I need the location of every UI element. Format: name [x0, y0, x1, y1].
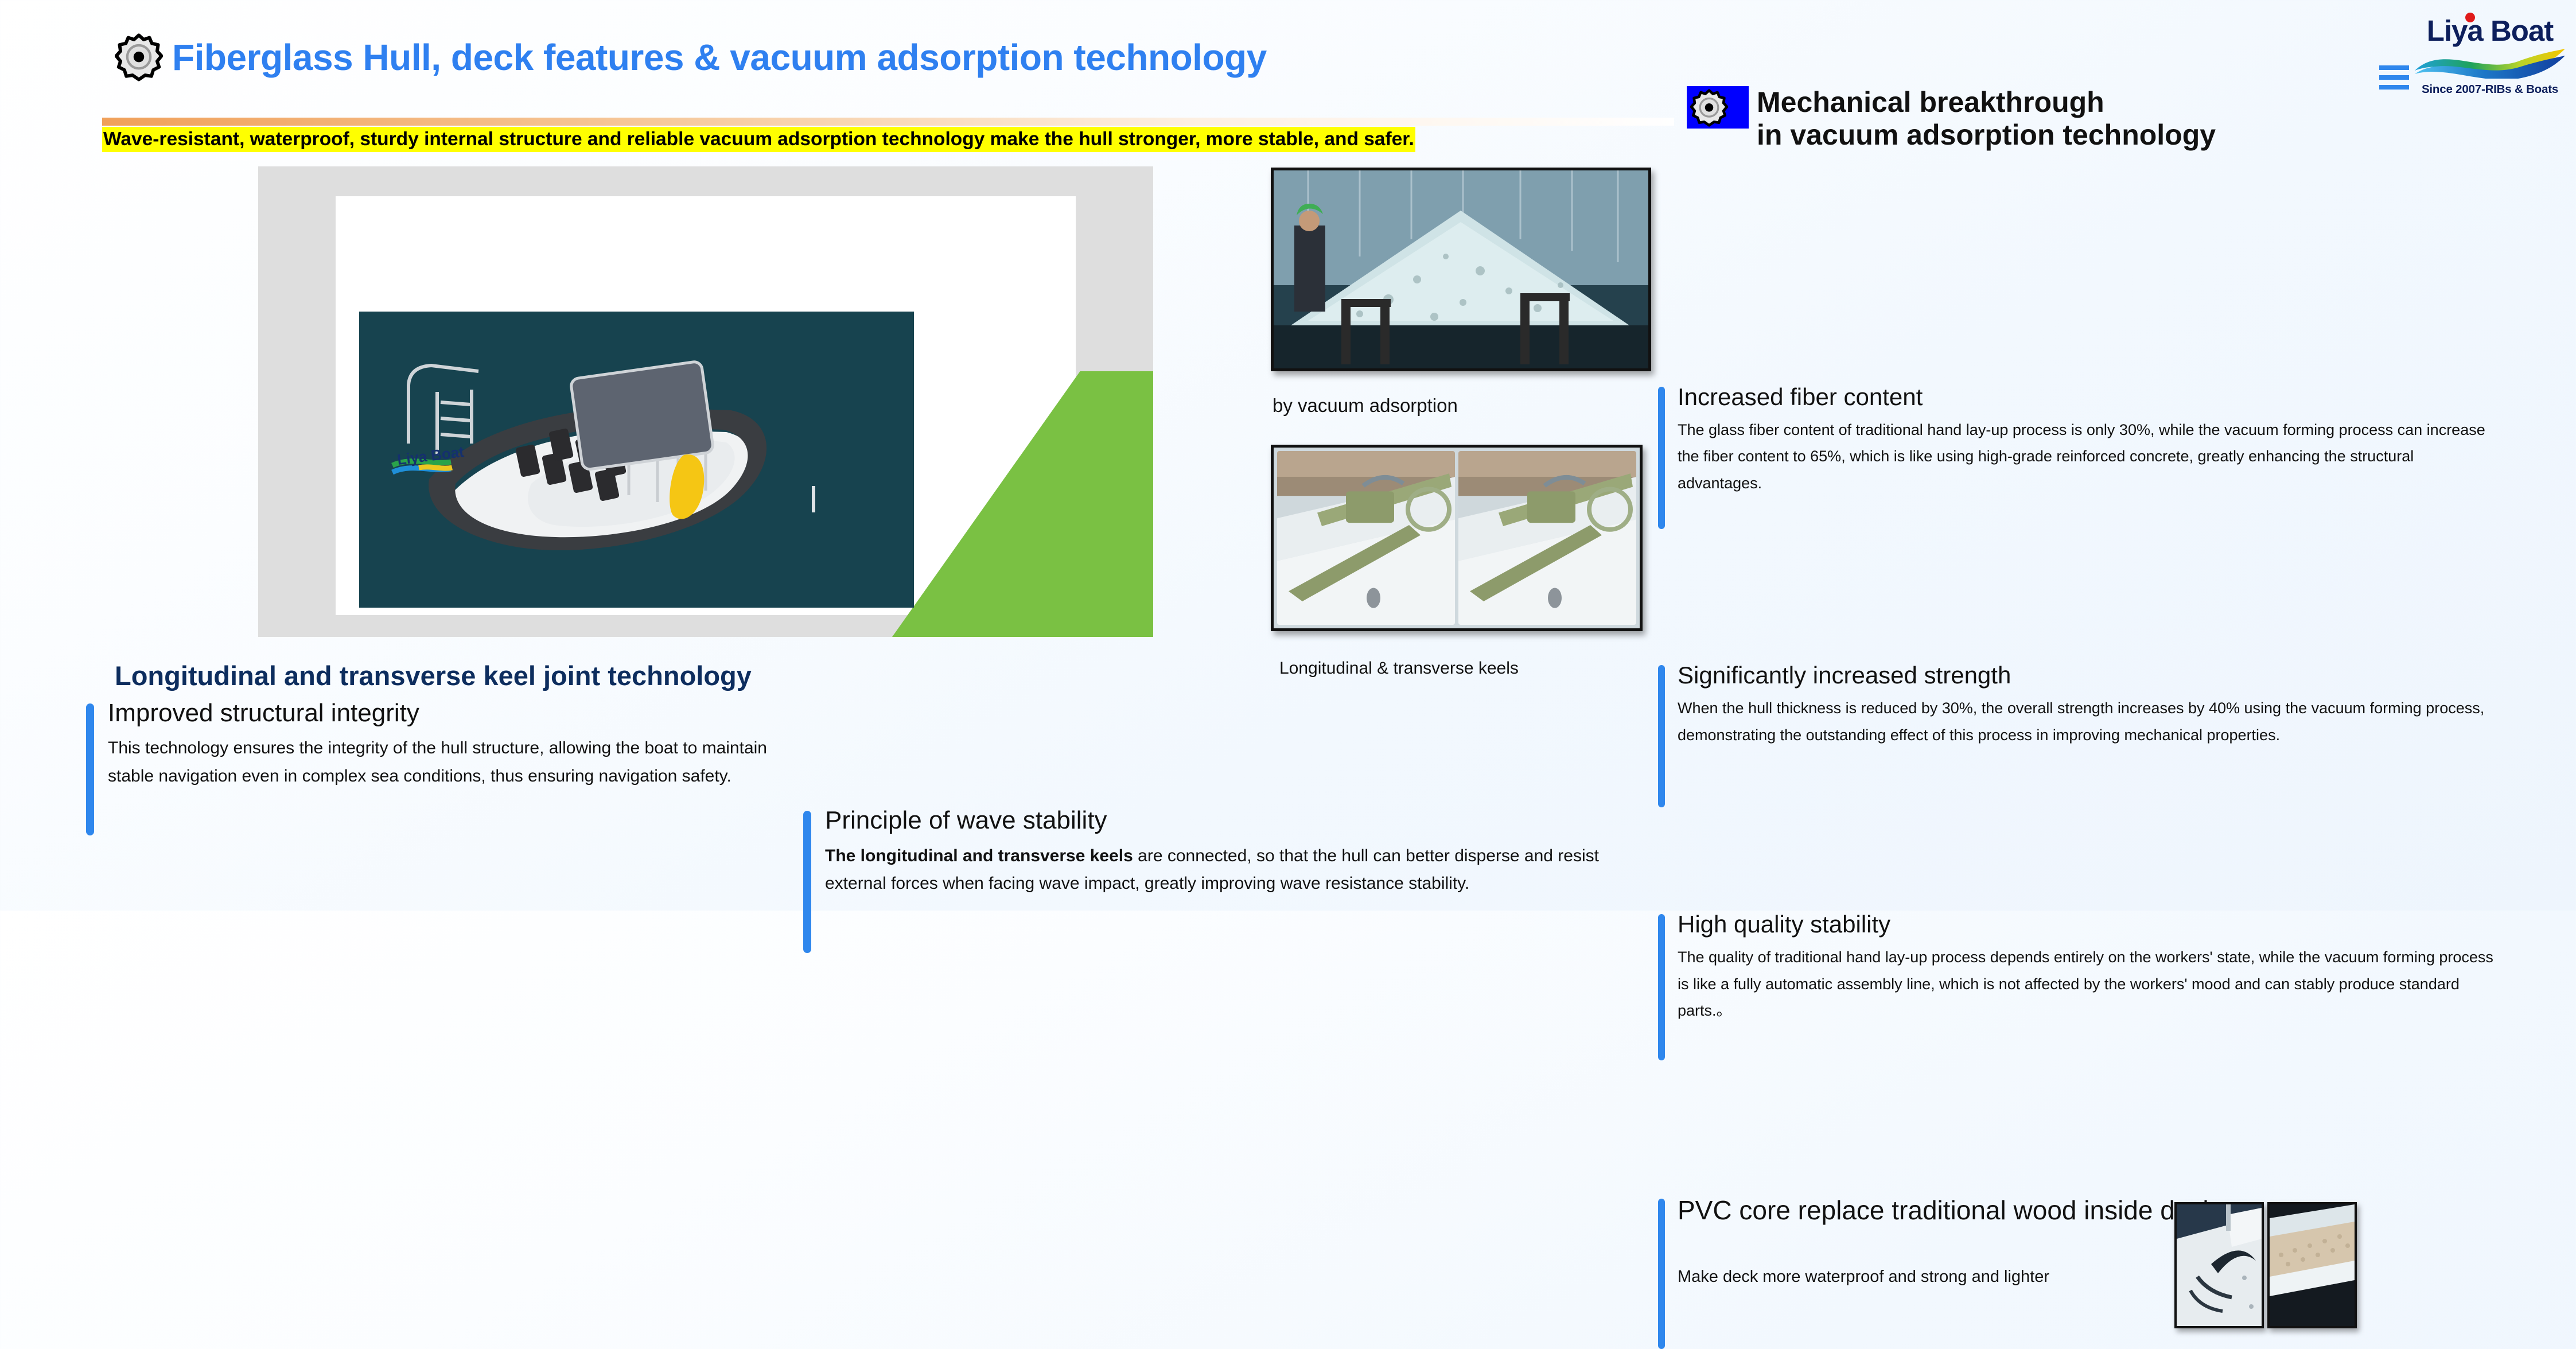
logo-word-text: Liya Boat [2427, 14, 2554, 47]
banner-top-shadow [102, 118, 1674, 126]
block-title: Principle of wave stability [825, 807, 1622, 834]
logo-wordmark: Liya Boat [2412, 16, 2567, 45]
vacuum-adsorption-caption: by vacuum adsorption [1273, 395, 1458, 417]
block-body: The longitudinal and transverse keels ar… [825, 842, 1622, 898]
block-title: Improved structural integrity [108, 700, 802, 726]
boat-showcase-card: Liya Boat [258, 166, 1153, 637]
page-title: Fiberglass Hull, deck features & vacuum … [172, 39, 1267, 76]
block-body: The glass fiber content of traditional h… [1678, 417, 2498, 496]
block-title: High quality stability [1678, 912, 2498, 937]
accent-bar [1658, 665, 1665, 807]
pvc-core-closeup-photo [2267, 1202, 2357, 1328]
block-pvc-core-deck: PVC core replace traditional wood inside… [1658, 1196, 2573, 1292]
block-increased-fiber-content: Increased fiber content The glass fiber … [1658, 384, 2498, 496]
highlight-text-wrap: Wave-resistant, waterproof, sturdy inter… [102, 126, 1674, 154]
keels-photo-right [1458, 451, 1636, 625]
gear-icon-badge [1687, 86, 1749, 129]
accent-bar [86, 703, 94, 835]
page-header: Fiberglass Hull, deck features & vacuum … [115, 33, 1267, 81]
keels-photo-left [1277, 451, 1455, 625]
boat-photo: Liya Boat [359, 312, 914, 608]
right-section-title-line1: Mechanical breakthrough [1757, 86, 2104, 118]
logo-wave-icon [2412, 45, 2567, 79]
block-principle-of-wave-stability: Principle of wave stability The longitud… [803, 807, 1622, 897]
block-body: The quality of traditional hand lay-up p… [1678, 944, 2498, 1024]
gear-icon [115, 33, 163, 81]
vacuum-adsorption-photo [1271, 168, 1651, 371]
block-high-quality-stability: High quality stability The quality of tr… [1658, 912, 2498, 1024]
block-body-bold: The longitudinal and transverse keels [825, 846, 1133, 865]
logo-tagline: Since 2007-RIBs & Boats [2412, 83, 2567, 96]
block-body: When the hull thickness is reduced by 30… [1678, 695, 2498, 748]
block-body: This technology ensures the integrity of… [108, 734, 802, 790]
right-section-title: Mechanical breakthrough in vacuum adsorp… [1757, 86, 2216, 151]
accent-bar [1658, 387, 1665, 529]
right-section-header: Mechanical breakthrough in vacuum adsorp… [1687, 86, 2216, 151]
right-section-title-line2: in vacuum adsorption technology [1757, 119, 2216, 151]
pvc-deck-photo [2174, 1202, 2264, 1328]
block-improved-structural-integrity: Improved structural integrity This techn… [86, 700, 802, 790]
accent-bar [1658, 914, 1665, 1060]
keel-technology-heading: Longitudinal and transverse keel joint t… [115, 660, 752, 691]
keels-photo-pair [1271, 445, 1643, 631]
block-title: Increased fiber content [1678, 384, 2498, 410]
block-title: PVC core replace traditional wood inside… [1678, 1196, 2573, 1224]
keels-caption: Longitudinal & transverse keels [1279, 659, 1519, 678]
logo-lines-decoration [2379, 65, 2409, 95]
logo-dot [2465, 13, 2475, 22]
brand-logo: Liya Boat Since 2007-RIBs & Boats [2412, 16, 2567, 99]
block-body: Make deck more waterproof and strong and… [1678, 1263, 2573, 1292]
highlight-text: Wave-resistant, waterproof, sturdy inter… [102, 127, 1415, 152]
accent-bar [1658, 1199, 1665, 1349]
pvc-photo-group [2174, 1202, 2357, 1328]
block-significantly-increased-strength: Significantly increased strength When th… [1658, 663, 2498, 748]
highlight-banner: Wave-resistant, waterproof, sturdy inter… [102, 118, 1674, 154]
accent-bar [803, 811, 811, 953]
block-title: Significantly increased strength [1678, 663, 2498, 688]
